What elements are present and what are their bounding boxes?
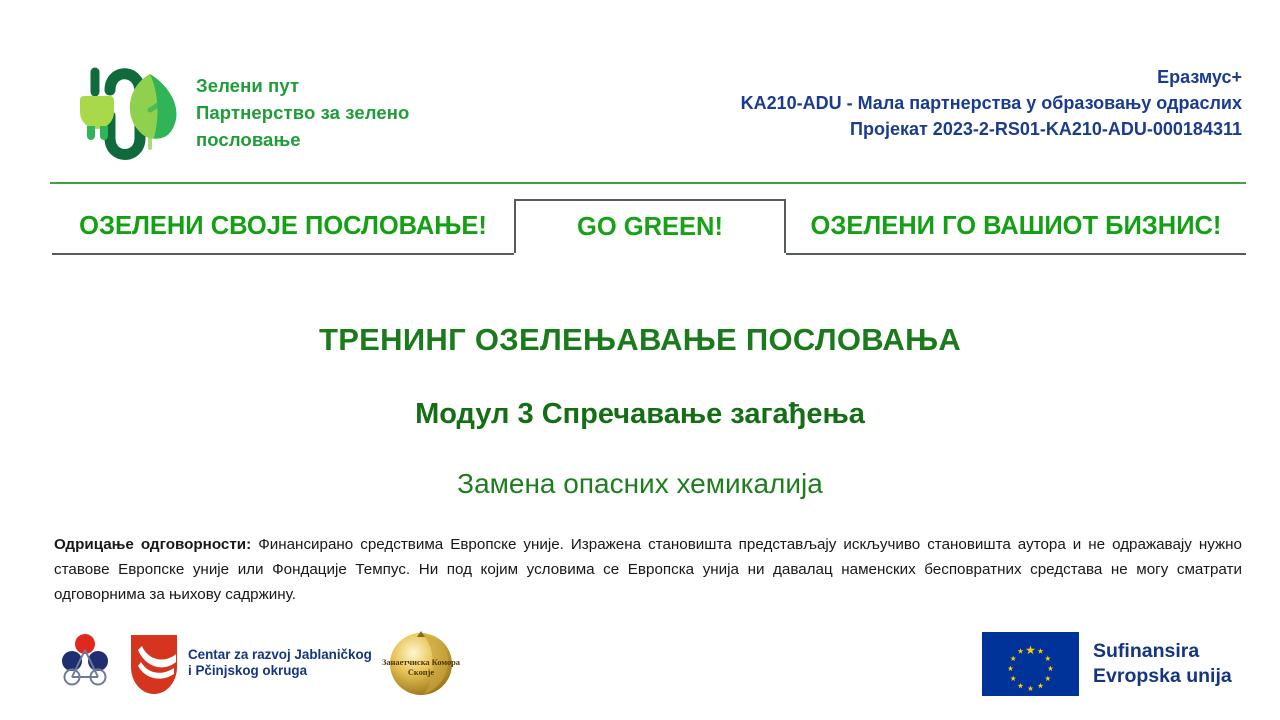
eu-line-1: Sufinansira <box>1093 639 1232 664</box>
brand-line-2: Партнерство за зелено <box>196 99 409 126</box>
eu-cofunded-logo: Sufinansira Evropska unija <box>982 632 1232 696</box>
erasmus-line-2: KA210-ADU - Мала партнерства у образовањ… <box>741 90 1242 116</box>
skopje-chamber-icon: Занаетчиска Комора Скопје <box>372 628 470 698</box>
centar-shield-icon <box>128 632 180 694</box>
bike-rings-logo <box>54 630 116 692</box>
tab-ozeleni-svoje-poslovanje[interactable]: ОЗЕЛЕНИ СВОЈЕ ПОСЛОВАЊЕ! <box>52 199 514 255</box>
footer-logo-strip: Centar za razvoj Jablaničkog i Pčinjskog… <box>0 612 1280 720</box>
slide-root: Зелени пут Партнерство за зелено послова… <box>0 0 1280 720</box>
centar-logo-text: Centar za razvoj Jablaničkog i Pčinjskog… <box>188 647 372 679</box>
brand-text: Зелени пут Партнерство за зелено послова… <box>196 72 409 153</box>
centar-line-2: i Pčinjskog okruga <box>188 663 372 679</box>
brand-line-3: пословање <box>196 126 409 153</box>
tab-label: GO GREEN! <box>577 213 723 242</box>
slide-header: Зелени пут Партнерство за зелено послова… <box>0 0 1280 186</box>
erasmus-line-3: Пројекат 2023-2-RS01-KA210-ADU-000184311 <box>741 116 1242 142</box>
language-tab-band: ОЗЕЛЕНИ СВОЈЕ ПОСЛОВАЊЕ! GO GREEN! ОЗЕЛЕ… <box>0 199 1280 261</box>
header-divider <box>50 182 1246 184</box>
disclaimer-paragraph: Одрицање одговорности: Финансирано средс… <box>54 532 1242 607</box>
training-title: ТРЕНИНГ ОЗЕЛЕЊАВАЊЕ ПОСЛОВАЊА <box>0 322 1280 358</box>
skopje-line-1-text: Занаетчиска Комора <box>382 658 461 667</box>
lesson-subtitle: Замена опасних хемикалија <box>0 468 1280 500</box>
centar-za-razvoj-logo: Centar za razvoj Jablaničkog i Pčinjskog… <box>128 632 372 694</box>
eu-flag-icon <box>982 632 1079 696</box>
skopje-line-2-text: Скопје <box>408 668 435 677</box>
tab-go-green[interactable]: GO GREEN! <box>514 199 786 253</box>
tab-label: ОЗЕЛЕНИ СВОЈЕ ПОСЛОВАЊЕ! <box>79 212 487 241</box>
title-block: ТРЕНИНГ ОЗЕЛЕЊАВАЊЕ ПОСЛОВАЊА Модул 3 Сп… <box>0 300 1280 500</box>
tab-label: ОЗЕЛЕНИ ГО ВАШИОТ БИЗНИС! <box>811 212 1222 241</box>
module-title: Модул 3 Спречавање загађења <box>0 398 1280 431</box>
brand-line-1: Зелени пут <box>196 72 409 99</box>
plug-leaf-icon <box>62 52 182 170</box>
skopje-chamber-logo: Занаетчиска Комора Скопје <box>372 628 470 698</box>
centar-line-1: Centar za razvoj Jablaničkog <box>188 647 372 663</box>
erasmus-programme-block: Еразмус+ KA210-ADU - Мала партнерства у … <box>741 64 1242 142</box>
erasmus-line-1: Еразмус+ <box>741 64 1242 90</box>
eu-logo-text: Sufinansira Evropska unija <box>1093 639 1232 689</box>
bike-rings-icon <box>54 630 116 692</box>
eu-line-2: Evropska unija <box>1093 664 1232 689</box>
tab-ozeleni-go-vashiot-biznis[interactable]: ОЗЕЛЕНИ ГО ВАШИОТ БИЗНИС! <box>786 199 1246 255</box>
disclaimer-label: Одрицање одговорности: <box>54 536 251 553</box>
brand-block: Зелени пут Партнерство за зелено послова… <box>62 52 409 170</box>
